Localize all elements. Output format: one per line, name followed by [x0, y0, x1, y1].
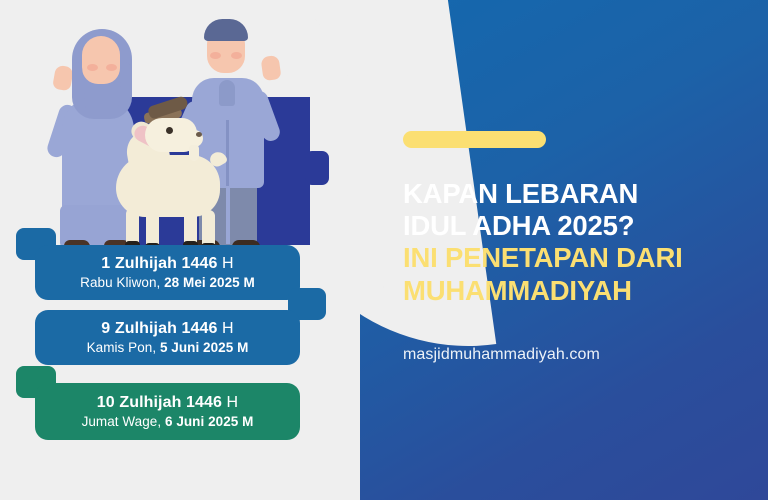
date-card-1-hijri-unit: H [222, 255, 234, 272]
date-card-3[interactable]: 10 Zulhijah 1446 H Jumat Wage, 6 Juni 20… [35, 383, 300, 440]
date-card-1-gregorian-date: 28 Mei 2025 M [164, 275, 255, 290]
date-card-2-hijri: 9 Zulhijah 1446 H [101, 320, 233, 338]
title-line-3: INI PENETAPAN DARI [403, 242, 753, 274]
woman-cheek-right [106, 64, 117, 71]
man-cheek-left [210, 52, 221, 59]
illustration-panel: 1 Zulhijah 1446 H Rabu Kliwon, 28 Mei 20… [0, 0, 380, 500]
title-line-1: KAPAN LEBARAN [403, 178, 753, 210]
date-card-2-day-name: Kamis Pon, [87, 340, 157, 355]
date-card-1-hijri: 1 Zulhijah 1446 H [101, 255, 233, 273]
woman-face [82, 36, 120, 84]
title-line-2: IDUL ADHA 2025? [403, 210, 753, 242]
date-card-1-day-name: Rabu Kliwon, [80, 275, 160, 290]
date-card-1[interactable]: 1 Zulhijah 1446 H Rabu Kliwon, 28 Mei 20… [35, 245, 300, 300]
date-card-1-gregorian: Rabu Kliwon, 28 Mei 2025 M [80, 275, 255, 290]
date-card-3-gregorian: Jumat Wage, 6 Juni 2025 M [82, 414, 254, 429]
goat-nose [196, 132, 202, 137]
man-waving-hand [260, 55, 281, 81]
date-card-3-hijri: 10 Zulhijah 1446 H [97, 394, 238, 412]
date-card-2-gregorian-date: 5 Juni 2025 M [160, 340, 248, 355]
date-card-2-gregorian: Kamis Pon, 5 Juni 2025 M [87, 340, 249, 355]
man-collar [219, 80, 235, 106]
goat-beard [189, 145, 199, 161]
date-card-2[interactable]: 9 Zulhijah 1446 H Kamis Pon, 5 Juni 2025… [35, 310, 300, 365]
date-card-1-hijri-text: 1 Zulhijah 1446 [101, 255, 217, 272]
man-trouser-gap [226, 188, 230, 244]
man-robe-placket [226, 120, 229, 186]
date-card-3-day-name: Jumat Wage, [82, 414, 162, 429]
date-card-3-hijri-text: 10 Zulhijah 1446 [97, 394, 222, 411]
date-card-2-hijri-text: 9 Zulhijah 1446 [101, 320, 217, 337]
date-card-2-hijri-unit: H [222, 320, 234, 337]
man-peci-cap [204, 19, 248, 41]
website-url: masjidmuhammadiyah.com [403, 346, 600, 364]
woman-cheek-left [87, 64, 98, 71]
woman-waving-hand [52, 65, 74, 92]
date-card-3-hijri-unit: H [227, 394, 239, 411]
page-title: KAPAN LEBARAN IDUL ADHA 2025? INI PENETA… [403, 178, 753, 307]
title-line-4: MUHAMMADIYAH [403, 275, 753, 307]
family-goat-illustration [0, 0, 380, 260]
date-card-3-gregorian-date: 6 Juni 2025 M [165, 414, 253, 429]
infographic-poster: KAPAN LEBARAN IDUL ADHA 2025? INI PENETA… [0, 0, 768, 500]
man-cheek-right [231, 52, 242, 59]
goat-eye [166, 127, 173, 134]
accent-pill [403, 131, 546, 148]
